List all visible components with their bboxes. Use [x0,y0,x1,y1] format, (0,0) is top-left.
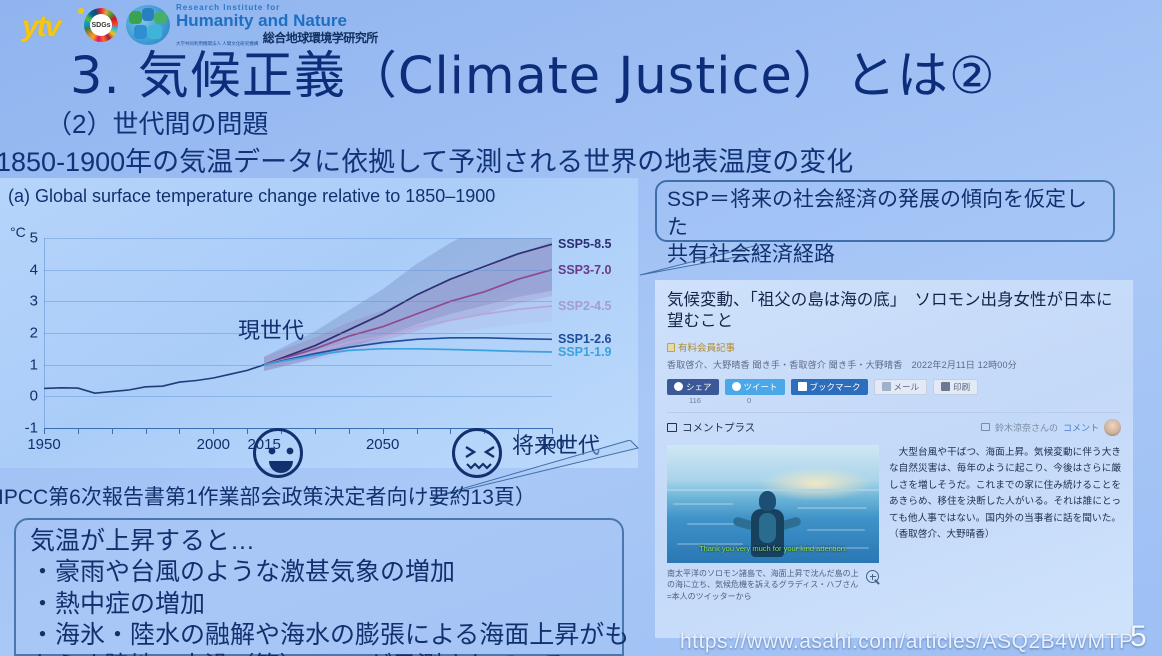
hatena-icon [798,382,807,391]
chart-x-tick-label: 2000 [197,436,230,453]
chart-y-tick-label: -1 [25,420,38,437]
share-count-hatena: 0 [747,396,751,405]
sdgs-badge-label: SDGs [90,14,112,36]
news-article-screenshot: 気候変動、「祖父の島は海の底」 ソロモン出身女性が日本に望むこと 有料会員記事 … [655,280,1133,638]
paid-member-badge: 有料会員記事 [667,340,1121,354]
comment-plus-left[interactable]: コメントプラス [667,420,755,435]
chart-x-tick [146,428,147,434]
chart-y-tick-label: 3 [30,293,38,310]
chart-x-tick [450,428,451,434]
printer-icon [941,382,950,391]
chart-y-tick-label: 4 [30,261,38,278]
share-button-mail[interactable]: メール [874,379,928,395]
chart-title: (a) Global surface temperature change re… [8,186,495,207]
chart-y-tick-label: 5 [30,230,38,247]
share-count-facebook: 116 [689,396,701,405]
chart-gridline [44,270,552,271]
ssp-callout-line1: SSP＝将来の社会経済の発展の傾向を仮定した [667,186,1103,241]
consequences-heading: 気温が上昇すると… [30,526,608,557]
avatar [1104,419,1121,436]
consequence-item-3: ・海氷・陸水の融解や海水の膨張による海面上昇がも [30,620,608,651]
share-button-facebook[interactable]: シェア [667,379,719,395]
share-button-print[interactable]: 印刷 [933,379,978,395]
comment-bubble-icon-small [981,423,990,431]
share-button-hatena[interactable]: ブックマーク [791,379,868,395]
article-body-row: Thank you very much for your kind attent… [667,445,1121,603]
share-label-mail: メール [894,381,920,393]
article-byline: 香取啓介、大野晴香 聞き手・香取啓介 聞き手・大野晴香 2022年2月11日 1… [667,358,1121,371]
ytv-logo-dot [78,8,84,14]
consequence-item-3-continued: たらす陸地の水没（等）・・・が予測されている [30,651,608,656]
source-url: https://www.asahi.com/articles/ASQ2B4WMT… [680,630,1133,654]
chart-x-tick [44,428,45,434]
share-label-twitter: ツイート [744,381,778,393]
paid-badge-label: 有料会員記事 [678,343,735,354]
consequences-callout: 気温が上昇すると… ・豪雨や台風のような激甚気象の増加 ・熱中症の増加 ・海氷・… [14,518,624,656]
slide-subtitle: （2）世代間の問題 [46,104,268,141]
chart-legend-ssp3-7.0: SSP3-7.0 [558,263,612,277]
comment-link[interactable]: コメント [1063,421,1099,434]
chart-x-tick [78,428,79,434]
chart-x-tick [179,428,180,434]
lock-icon [667,343,675,352]
chart-x-tick-label: 2015 [247,436,280,453]
chart-line-historical [44,365,264,394]
page-title: 3. 気候正義（Climate Justice）とは② [70,34,996,108]
person-head [759,491,776,511]
magnifier-icon[interactable] [866,570,879,583]
chart-y-tick-label: 1 [30,356,38,373]
puzzle-piece [154,12,167,24]
chart-y-axis-unit: °C [10,224,26,240]
article-headline[interactable]: 気候変動、「祖父の島は海の底」 ソロモン出身女性が日本に望むこと [667,290,1121,333]
chart-y-tick-label: 0 [30,388,38,405]
temperature-chart-panel: (a) Global surface temperature change re… [0,178,638,468]
share-label-facebook: シェア [686,381,712,393]
puzzle-piece [129,11,142,24]
share-button-twitter[interactable]: ツイート [725,379,785,395]
chart-x-tick [247,428,248,434]
ssp-callout-line2: 共有社会経済経路 [667,241,1103,269]
share-button-row[interactable]: シェア ツイート ブックマーク メール 印刷 [667,379,1121,395]
article-photo-block[interactable]: Thank you very much for your kind attent… [667,445,879,603]
facebook-icon [674,382,683,391]
mail-icon [882,382,891,391]
ssp-definition-callout: SSP＝将来の社会経済の発展の傾向を仮定した 共有社会経済経路 [655,180,1115,242]
wave [807,529,865,531]
comment-plus-label: コメントプラス [682,420,755,435]
chart-x-tick [349,428,350,434]
sky-glow [761,467,871,501]
wave [673,503,733,505]
chart-x-tick [112,428,113,434]
consequence-item-2: ・熱中症の増加 [30,589,608,620]
chart-x-tick-label: 1950 [27,436,60,453]
page-number: 5 [1130,620,1147,654]
comment-plus-row[interactable]: コメントプラス 鈴木涼奈さんの コメント [667,412,1121,436]
ytv-logo: ytv [22,10,59,44]
chart-legend-ssp2-4.5: SSP2-4.5 [558,299,612,313]
chart-y-tick-label: 2 [30,325,38,342]
chart-gridline [44,396,552,397]
comment-author-block[interactable]: 鈴木涼奈さんの コメント [981,419,1121,436]
twitter-icon [732,382,741,391]
photo-subtitle: Thank you very much for your kind attent… [667,544,879,553]
comment-author-name: 鈴木涼奈さんの [995,421,1058,434]
wave [797,507,867,509]
chart-gridline [44,238,552,239]
chart-annotation-current-generation: 現世代 [238,313,304,345]
chart-source-citation: IPCC第6次報告書第1作業部会政策決定者向け要約13頁） [0,481,536,511]
article-photo[interactable]: Thank you very much for your kind attent… [667,445,879,563]
chart-x-tick [315,428,316,434]
chart-gridline [44,301,552,302]
share-label-print: 印刷 [953,381,970,393]
magnifier-handle [874,579,880,585]
chart-legend-ssp5-8.5: SSP5-8.5 [558,237,612,251]
wave [687,523,735,525]
rihn-english-line2: Humanity and Nature [176,12,378,30]
consequence-item-1: ・豪雨や台風のような激甚気象の増加 [30,557,608,588]
puzzle-piece [142,8,154,21]
slide-lead-text: 1850-1900年の気温データに依拠して予測される世界の地表温度の変化 [0,140,853,179]
share-count-row: 116 0 [689,396,1121,405]
share-label-hatena: ブックマーク [810,381,861,393]
person-torso [759,513,776,543]
horizon-line [667,489,879,491]
chart-x-tick [383,428,384,434]
photo-caption-text: 南太平洋のソロモン諸島で、海面上昇で沈んだ島の上の海に立ち、気候危機を訴えるグラ… [667,569,859,601]
article-lead-paragraph: 大型台風や干ばつ、海面上昇。気候変動に伴う大きな自然災害は、毎年のように起こり、… [889,445,1121,603]
chart-x-tick [213,428,214,434]
comment-bubble-icon [667,423,677,432]
photo-caption-block: 南太平洋のソロモン諸島で、海面上昇で沈んだ島の上の海に立ち、気候危機を訴えるグラ… [667,568,879,603]
chart-x-tick [417,428,418,434]
chart-x-tick-label: 2050 [366,436,399,453]
chart-gridline [44,365,552,366]
chart-legend-ssp1-1.9: SSP1-1.9 [558,345,612,359]
